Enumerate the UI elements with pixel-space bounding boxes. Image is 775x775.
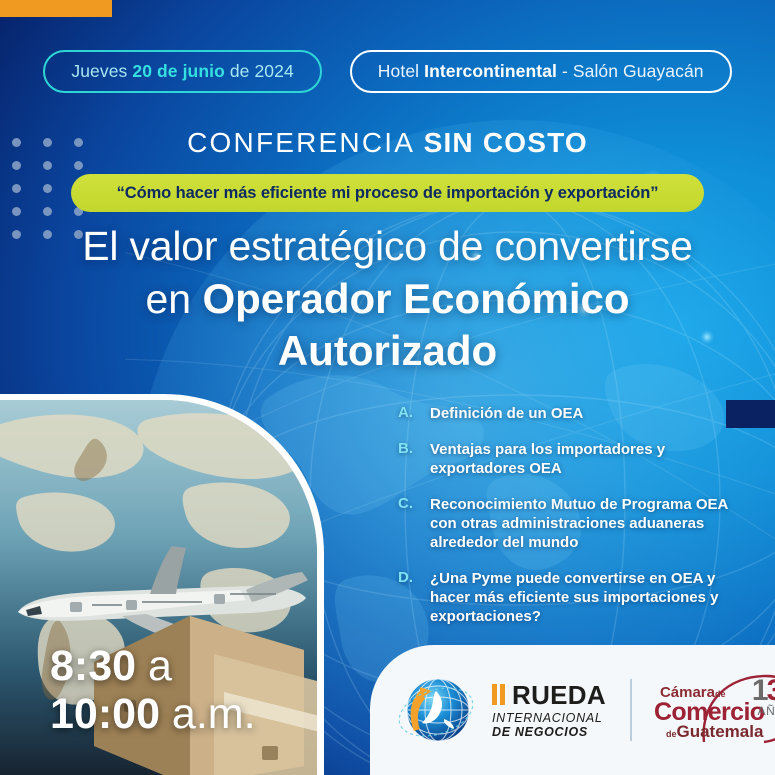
- agenda-marker: C.: [398, 495, 418, 552]
- footer-logo-bar: RUEDA INTERNACIONAL DE NEGOCIOS Cámarade…: [370, 645, 775, 775]
- time-end: 10:00: [50, 690, 160, 738]
- agenda-marker: A.: [398, 404, 418, 423]
- camara-word-guatemala: Guatemala: [676, 722, 763, 741]
- dark-accent-rectangle: [726, 400, 775, 428]
- agenda-text: Definición de un OEA: [430, 404, 583, 423]
- venue-bold: Intercontinental: [424, 61, 557, 81]
- badge-row: Jueves 20 de junio de 2024 Hotel Interco…: [0, 50, 775, 93]
- venue-suffix: - Salón Guayacán: [557, 61, 704, 81]
- subtitle-pill-text: “Cómo hacer más eficiente mi proceso de …: [117, 184, 659, 203]
- agenda-text: Reconocimiento Mutuo de Programa OEA con…: [430, 495, 728, 552]
- list-item: A. Definición de un OEA: [398, 404, 728, 423]
- headline-line-2-light: en: [145, 276, 202, 322]
- date-bold: 20 de junio: [132, 61, 225, 81]
- date-suffix: de 2024: [225, 61, 294, 81]
- rueda-wordmark: RUEDA INTERNACIONAL DE NEGOCIOS: [492, 681, 606, 739]
- list-item: B. Ventajas para los importadores y expo…: [398, 440, 728, 478]
- time-meridiem: a.m.: [160, 690, 256, 738]
- camara-comercio-logo: Cámarade Comercio deGuatemala 130 AÑOS: [652, 670, 775, 750]
- agenda-list: A. Definición de un OEA B. Ventajas para…: [398, 404, 728, 643]
- event-poster: Jueves 20 de junio de 2024 Hotel Interco…: [0, 0, 775, 775]
- event-time: 8:30 a 10:00 a.m.: [50, 642, 256, 738]
- camara-word-de-2: de: [666, 729, 677, 739]
- headline-line-2: en Operador Económico: [40, 276, 735, 321]
- conference-light: CONFERENCIA: [187, 127, 423, 158]
- agenda-text: ¿Una Pyme puede convertirse en OEA y hac…: [430, 569, 728, 626]
- rueda-sub2: DE NEGOCIOS: [492, 726, 606, 740]
- years-3: 3: [767, 674, 775, 707]
- venue-prefix: Hotel: [378, 61, 424, 81]
- rueda-bars-icon: [492, 684, 505, 705]
- camara-anniversary-label: AÑOS: [758, 704, 775, 718]
- list-item: D. ¿Una Pyme puede convertirse en OEA y …: [398, 569, 728, 626]
- orange-accent-bar: [0, 0, 112, 17]
- rueda-globe-icon: [392, 667, 478, 753]
- headline-line-1: El valor estratégico de convertirse: [40, 224, 735, 268]
- conference-bold: SIN COSTO: [424, 127, 588, 158]
- logo-divider: [630, 679, 632, 741]
- headline-line-3: Autorizado: [40, 328, 735, 373]
- time-start: 8:30: [50, 642, 136, 690]
- venue-badge: Hotel Intercontinental - Salón Guayacán: [350, 50, 732, 93]
- camara-line-3: deGuatemala: [666, 722, 763, 742]
- agenda-marker: D.: [398, 569, 418, 626]
- time-row-end: 10:00 a.m.: [50, 690, 256, 738]
- rueda-name: RUEDA: [512, 681, 606, 709]
- time-row-start: 8:30 a: [50, 642, 256, 690]
- conference-label: CONFERENCIA SIN COSTO: [0, 127, 775, 159]
- agenda-marker: B.: [398, 440, 418, 478]
- years-1: 1: [752, 674, 767, 707]
- camara-anniversary-number: 130: [752, 674, 775, 708]
- date-prefix: Jueves: [71, 61, 132, 81]
- headline-line-2-bold: Operador Económico: [202, 275, 629, 322]
- rueda-sub1: INTERNACIONAL: [492, 712, 606, 726]
- date-badge: Jueves 20 de junio de 2024: [43, 50, 321, 93]
- list-item: C. Reconocimiento Mutuo de Programa OEA …: [398, 495, 728, 552]
- agenda-text: Ventajas para los importadores y exporta…: [430, 440, 728, 478]
- time-connector: a: [136, 642, 172, 690]
- page-title: El valor estratégico de convertirse en O…: [40, 224, 735, 373]
- subtitle-pill: “Cómo hacer más eficiente mi proceso de …: [71, 174, 704, 212]
